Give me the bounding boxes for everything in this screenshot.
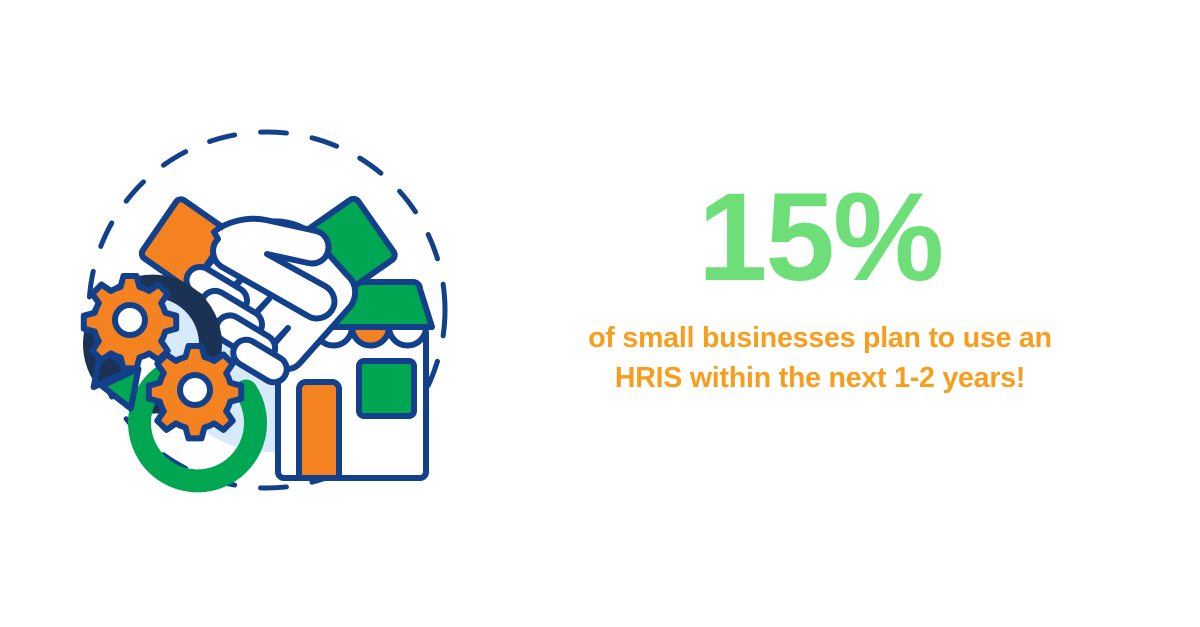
statistic-caption-line-1: of small businesses plan to use an — [500, 318, 1140, 358]
gear-top-hub — [115, 305, 145, 335]
illustration-svg: Small business partnership and automatio… — [60, 105, 480, 525]
statistic-caption-line-2: HRIS within the next 1-2 years! — [500, 358, 1140, 398]
statistic-caption: of small businesses plan to use an HRIS … — [500, 318, 1140, 399]
statistic-figure: 15% — [500, 175, 1140, 300]
statistic-block: 15% of small businesses plan to use an H… — [500, 175, 1140, 399]
gear-bottom-hub — [180, 375, 210, 405]
infographic-canvas: Small business partnership and automatio… — [0, 0, 1200, 627]
storefront-window — [359, 361, 414, 416]
storefront-door — [299, 382, 339, 478]
illustration-small-business-hris: Small business partnership and automatio… — [60, 105, 480, 525]
gear-bottom — [149, 346, 241, 438]
